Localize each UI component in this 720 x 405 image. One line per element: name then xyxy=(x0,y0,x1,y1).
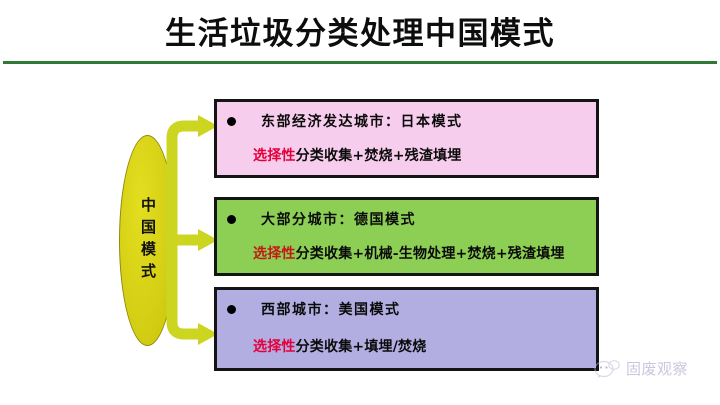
wechat-bubble-icon xyxy=(594,359,620,379)
branch-detail-rest: 分类收集+填埋/焚烧 xyxy=(296,339,427,355)
branch-detail-emphasis: 选择性 xyxy=(253,148,296,164)
branch-connector xyxy=(160,95,222,365)
title-divider xyxy=(3,61,717,64)
slide-canvas: 生活垃圾分类处理中国模式 中国模式 东部经济发达城市：日本模式 选择性 xyxy=(0,0,720,405)
branch-detail-emphasis: 选择性 xyxy=(253,339,296,355)
bullet-icon xyxy=(227,117,236,126)
branch-heading: 大部分城市：德国模式 xyxy=(261,209,416,229)
branch-detail-rest: 分类收集+机械-生物处理+焚烧+残渣填埋 xyxy=(296,246,565,262)
branch-heading-row: 大部分城市：德国模式 xyxy=(227,209,416,229)
branch-detail-emphasis: 选择性 xyxy=(253,246,296,262)
branch-heading: 西部城市：美国模式 xyxy=(261,299,401,319)
branch-detail: 选择性分类收集+填埋/焚烧 xyxy=(253,336,426,356)
bullet-icon xyxy=(227,215,236,224)
bullet-icon xyxy=(227,305,236,314)
page-title: 生活垃圾分类处理中国模式 xyxy=(0,14,720,54)
branch-detail: 选择性分类收集+焚烧+残渣填埋 xyxy=(253,145,461,165)
branch-box-most: 大部分城市：德国模式 选择性分类收集+机械-生物处理+焚烧+残渣填埋 xyxy=(214,197,599,276)
branch-heading: 东部经济发达城市：日本模式 xyxy=(261,111,463,131)
branch-detail: 选择性分类收集+机械-生物处理+焚烧+残渣填埋 xyxy=(253,243,565,263)
watermark-text: 固废观察 xyxy=(626,358,688,379)
branch-box-west: 西部城市：美国模式 选择性分类收集+填埋/焚烧 xyxy=(214,287,599,371)
branch-detail-rest: 分类收集+焚烧+残渣填埋 xyxy=(296,148,462,164)
branch-box-east: 东部经济发达城市：日本模式 选择性分类收集+焚烧+残渣填埋 xyxy=(214,99,599,178)
branch-heading-row: 西部城市：美国模式 xyxy=(227,299,401,319)
branch-heading-row: 东部经济发达城市：日本模式 xyxy=(227,111,463,131)
watermark: 固废观察 xyxy=(594,358,688,379)
